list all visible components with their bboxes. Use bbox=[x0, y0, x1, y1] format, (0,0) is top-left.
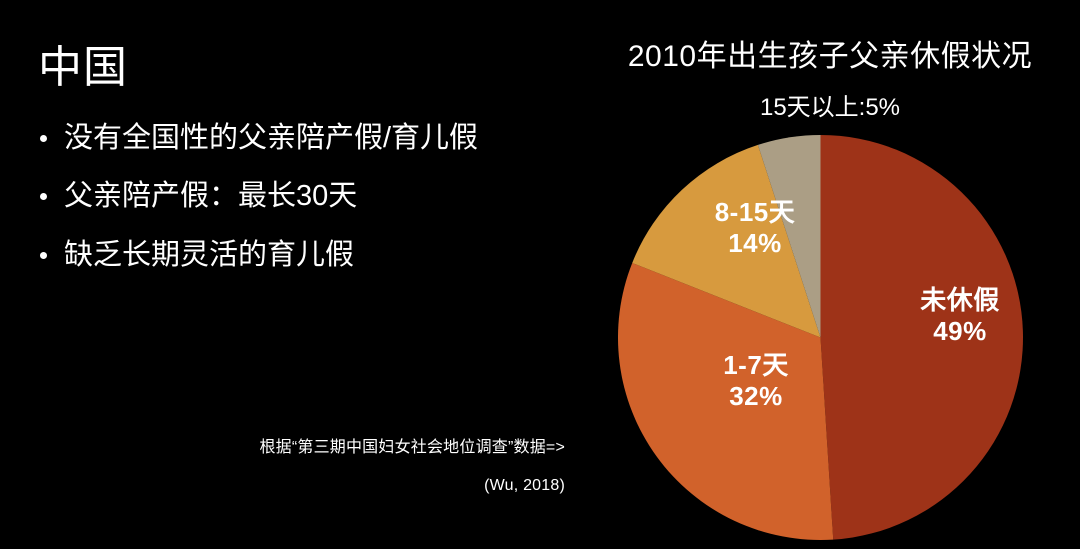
pie-chart: 未休假 49% 1-7天 32% 8-15天 14% bbox=[618, 135, 1023, 540]
list-item: 没有全国性的父亲陪产假/育儿假 bbox=[38, 120, 578, 156]
bullet-dot-icon bbox=[40, 135, 47, 142]
page-title: 中国 bbox=[38, 44, 128, 92]
list-item-label: 父亲陪产假：最长30天 bbox=[64, 180, 357, 212]
list-item-label: 缺乏长期灵活的育儿假 bbox=[64, 239, 354, 271]
pie-chart-svg bbox=[618, 135, 1023, 540]
pie-slice-1 bbox=[821, 135, 1023, 540]
footnote-source-text: 根据“第三期中国妇女社会地位调查”数据=> bbox=[150, 440, 565, 456]
bullet-list: 没有全国性的父亲陪产假/育儿假 父亲陪产假：最长30天 缺乏长期灵活的育儿假 bbox=[38, 120, 578, 295]
footnote-citation-text: (Wu, 2018) bbox=[150, 478, 565, 494]
bullet-dot-icon bbox=[40, 193, 47, 200]
list-item-label: 没有全国性的父亲陪产假/育儿假 bbox=[64, 122, 478, 154]
chart-title: 2010年出生孩子父亲休假状况 bbox=[580, 40, 1080, 73]
bullet-dot-icon bbox=[40, 252, 47, 259]
list-item: 缺乏长期灵活的育儿假 bbox=[38, 237, 578, 273]
source-footnote: 根据“第三期中国妇女社会地位调查”数据=> (Wu, 2018) bbox=[150, 440, 565, 494]
list-item: 父亲陪产假：最长30天 bbox=[38, 178, 578, 214]
chart-subtitle-slice-callout: 15天以上:5% bbox=[580, 95, 1080, 121]
pie-chart-panel: 2010年出生孩子父亲休假状况 15天以上:5% 未休假 49% 1-7天 32… bbox=[580, 0, 1080, 549]
pie-slices-group bbox=[618, 135, 1023, 540]
